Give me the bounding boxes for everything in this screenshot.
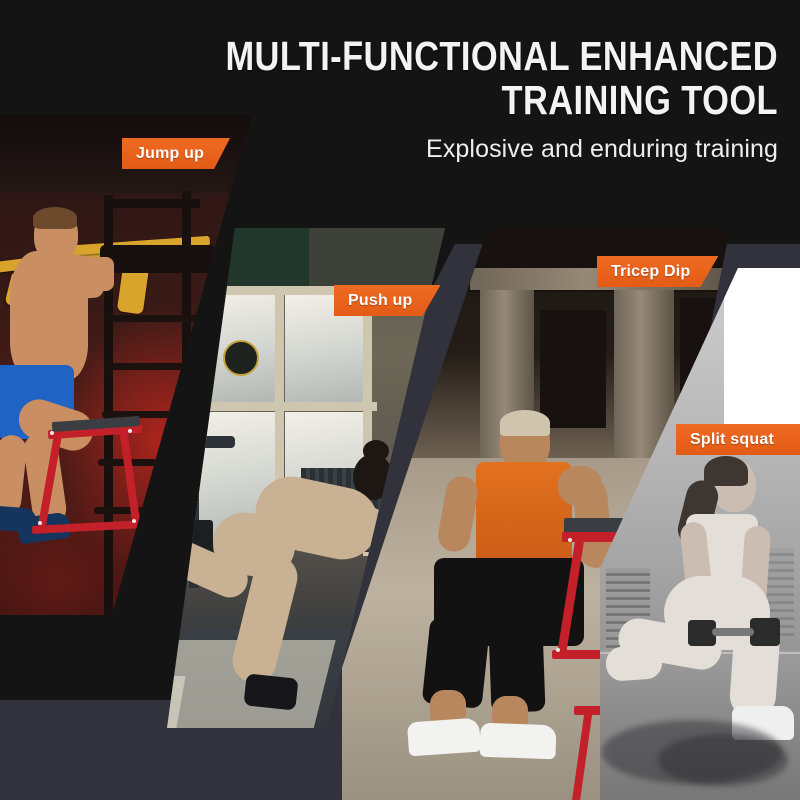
badge-tricep-dip[interactable]: Tricep Dip	[597, 256, 718, 287]
product-poster: MULTI-FUNCTIONAL ENHANCED TRAINING TOOL …	[0, 0, 800, 800]
badge-jump-up[interactable]: Jump up	[122, 138, 230, 169]
plyo-box-bolt	[568, 538, 572, 542]
wall-panel	[223, 228, 309, 294]
athlete-hair	[33, 207, 77, 229]
doorway-opening	[540, 310, 606, 428]
dumbbell-bar	[712, 628, 754, 636]
athlete-hands	[88, 257, 114, 291]
athlete-shoe	[479, 723, 556, 760]
ladder-rung	[108, 315, 198, 322]
floor-shadow	[658, 734, 788, 786]
plyo-box-bolt	[128, 429, 132, 433]
dumbbell	[750, 618, 780, 646]
plyo-box-leg	[557, 540, 584, 656]
headline-line-1: MULTI-FUNCTIONAL ENHANCED	[124, 34, 778, 78]
plyo-box-leg	[572, 712, 593, 800]
wall-bar-frame	[100, 245, 215, 273]
badge-split-squat[interactable]: Split squat	[676, 424, 800, 455]
plyo-box-leg	[119, 429, 141, 527]
athlete-hair	[704, 456, 748, 486]
header-text-block: MULTI-FUNCTIONAL ENHANCED TRAINING TOOL …	[0, 34, 800, 164]
headline-line-2: TRAINING TOOL	[124, 78, 778, 122]
athlete-shoe	[243, 673, 298, 710]
plyo-box-bolt	[556, 648, 560, 652]
wall-clock	[223, 340, 259, 376]
athlete-hair	[500, 410, 550, 436]
athlete-shoe	[407, 718, 481, 757]
subtitle: Explosive and enduring training	[0, 135, 778, 164]
plyo-box-bottom-rail	[32, 520, 144, 534]
athlete-shin-back	[605, 644, 663, 682]
plyo-box-bolt	[50, 431, 54, 435]
plyo-box-bolt	[38, 521, 42, 525]
ladder-rung	[106, 363, 190, 370]
athlete-bun	[363, 440, 389, 462]
wall-bar-frame	[110, 199, 200, 208]
bright-window	[724, 268, 800, 430]
badge-push-up[interactable]: Push up	[334, 285, 441, 316]
plyo-box-leg	[38, 431, 63, 529]
plyo-box-bolt	[132, 519, 136, 523]
athlete-shin	[0, 434, 28, 517]
plyo-box	[30, 415, 150, 535]
